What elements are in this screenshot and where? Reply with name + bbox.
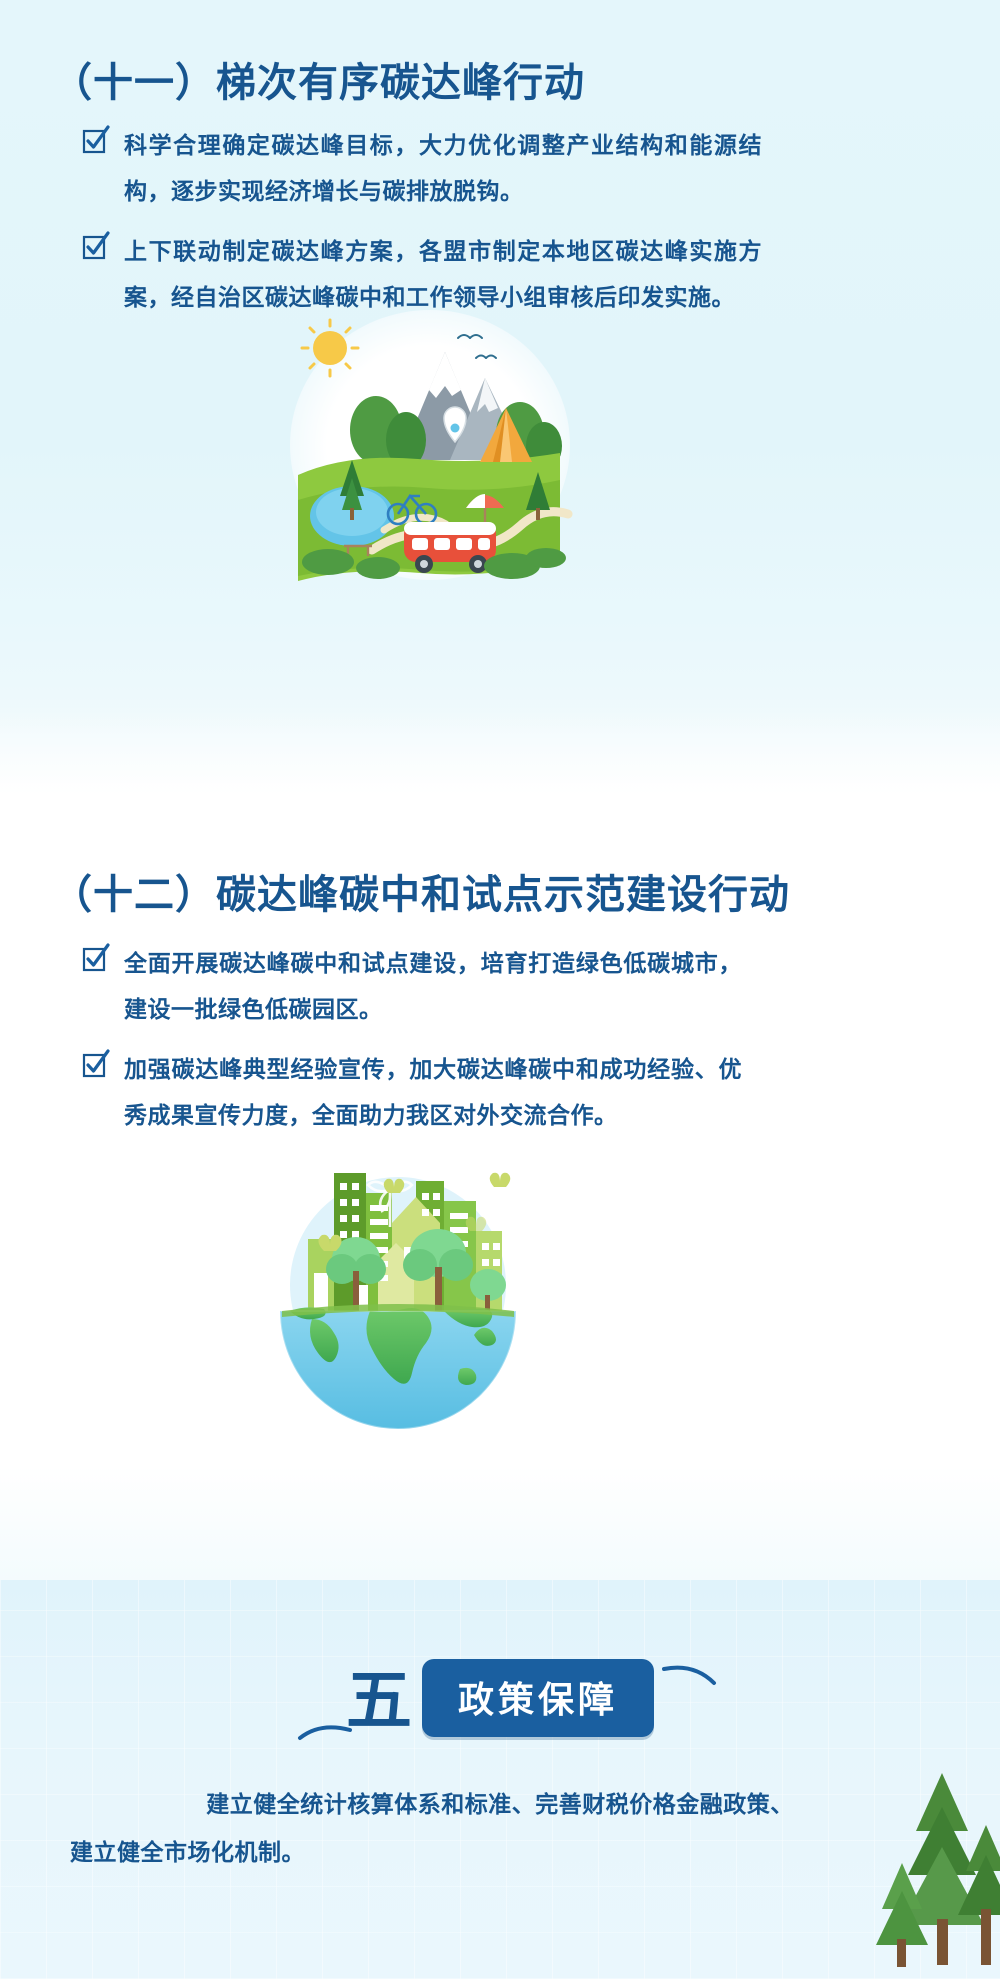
list-item: 科学合理确定碳达峰目标，大力优化调整产业结构和能源结构，逐步实现经济增长与碳排放… bbox=[82, 122, 762, 214]
section-12-bullet-list: 全面开展碳达峰碳中和试点建设，培育打造绿色低碳城市，建设一批绿色低碳园区。 加强… bbox=[82, 940, 742, 1152]
list-item: 全面开展碳达峰碳中和试点建设，培育打造绿色低碳城市，建设一批绿色低碳园区。 bbox=[82, 940, 742, 1032]
nature-camping-illustration bbox=[280, 300, 580, 590]
section-five-paragraph: 建立健全统计核算体系和标准、完善财税价格金融政策、 建立健全市场化机制。 bbox=[70, 1780, 930, 1876]
globe-icon bbox=[280, 1307, 516, 1429]
checkbox-checked-icon bbox=[82, 231, 110, 261]
infographic-page: （十一）梯次有序碳达峰行动 科学合理确定碳达峰目标，大力优化调整产业结构和能源结… bbox=[0, 0, 1000, 1979]
paragraph-line: 建立健全统计核算体系和标准、完善财税价格金融政策、 bbox=[70, 1780, 930, 1828]
section-11-panel: （十一）梯次有序碳达峰行动 科学合理确定碳达峰目标，大力优化调整产业结构和能源结… bbox=[0, 0, 1000, 795]
banner-swoosh-right bbox=[660, 1663, 720, 1703]
section-11-title: （十一）梯次有序碳达峰行动 bbox=[52, 50, 585, 108]
green-city-globe-illustration bbox=[238, 1135, 558, 1455]
banner-swoosh-left bbox=[296, 1718, 358, 1744]
panel-fade bbox=[0, 705, 1000, 795]
pine-tree-icon bbox=[820, 1759, 1000, 1979]
sun-icon bbox=[302, 320, 358, 376]
list-item-text: 科学合理确定碳达峰目标，大力优化调整产业结构和能源结构，逐步实现经济增长与碳排放… bbox=[124, 122, 762, 214]
section-five-banner: 五 政策保障 bbox=[0, 1645, 1000, 1750]
checkbox-checked-icon bbox=[82, 943, 110, 973]
list-item: 加强碳达峰典型经验宣传，加大碳达峰碳中和成功经验、优秀成果宣传力度，全面助力我区… bbox=[82, 1046, 742, 1138]
section-five-label: 政策保障 bbox=[422, 1659, 654, 1737]
list-item-text: 全面开展碳达峰碳中和试点建设，培育打造绿色低碳城市，建设一批绿色低碳园区。 bbox=[124, 940, 742, 1032]
birds-icon bbox=[458, 335, 496, 358]
list-item-text: 加强碳达峰典型经验宣传，加大碳达峰碳中和成功经验、优秀成果宣传力度，全面助力我区… bbox=[124, 1046, 742, 1138]
paragraph-line: 建立健全市场化机制。 bbox=[70, 1828, 930, 1876]
checkbox-checked-icon bbox=[82, 1049, 110, 1079]
section-12-title: （十二）碳达峰碳中和试点示范建设行动 bbox=[52, 862, 790, 920]
checkbox-checked-icon bbox=[82, 125, 110, 155]
